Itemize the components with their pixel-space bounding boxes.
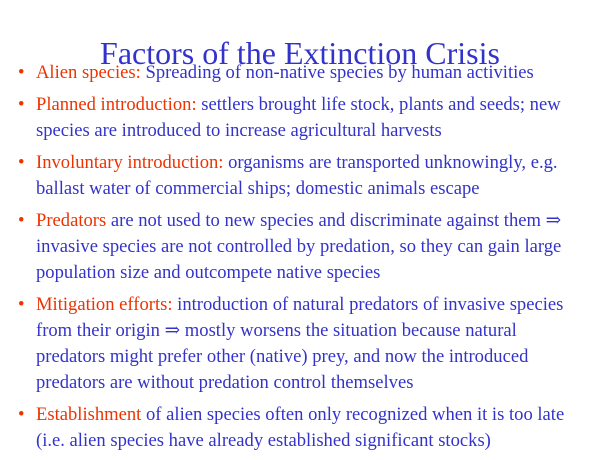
slide: Factors of the Extinction Crisis • Alien…	[0, 0, 600, 450]
bullet-text: are not used to new species and discrimi…	[36, 210, 561, 283]
list-item: • Alien species: Spreading of non-native…	[0, 60, 600, 86]
list-item: • Mitigation efforts: introduction of na…	[0, 292, 600, 396]
list-item: • Planned introduction: settlers brought…	[0, 92, 600, 144]
bullet-dot-icon: •	[18, 402, 25, 428]
bullet-term: Alien species:	[36, 62, 141, 83]
bullet-dot-icon: •	[18, 150, 25, 176]
list-item: • Establishment of alien species often o…	[0, 402, 600, 454]
bullet-term: Planned introduction:	[36, 94, 197, 115]
bullet-term: Establishment	[36, 404, 141, 425]
bullet-dot-icon: •	[18, 92, 25, 118]
list-item: • Predators are not used to new species …	[0, 208, 600, 286]
bullet-term: Involuntary introduction:	[36, 152, 223, 173]
bullet-dot-icon: •	[18, 208, 25, 234]
list-item: • Involuntary introduction: organisms ar…	[0, 150, 600, 202]
bullet-term: Predators	[36, 210, 106, 231]
bullet-dot-icon: •	[18, 292, 25, 318]
bullet-dot-icon: •	[18, 60, 25, 86]
bullet-term: Mitigation efforts:	[36, 294, 173, 315]
bullet-list: • Alien species: Spreading of non-native…	[0, 60, 600, 460]
bullet-text: Spreading of non-native species by human…	[141, 62, 534, 83]
